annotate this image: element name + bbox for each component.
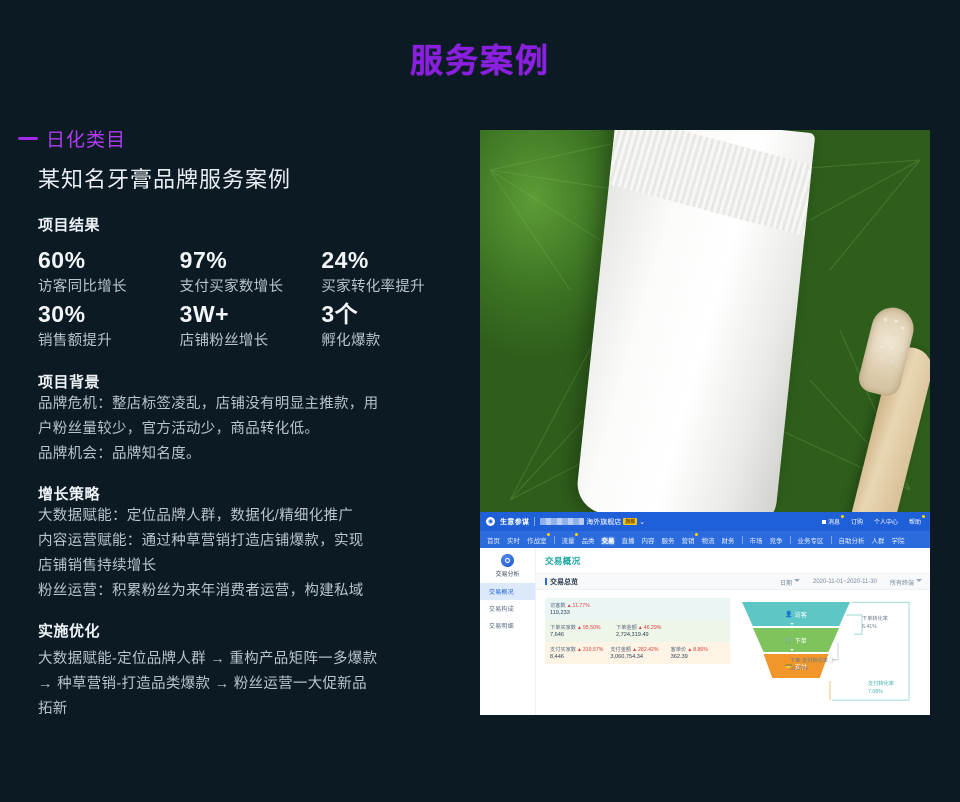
brand-logo-icon: ◉ xyxy=(486,517,495,526)
stat-delta: 11.77% xyxy=(573,603,590,609)
stat-delta: 319.57% xyxy=(583,647,603,653)
tube-crimp xyxy=(609,130,812,237)
nav-item-home[interactable]: 首页 xyxy=(487,535,500,545)
help-button[interactable]: 帮助 xyxy=(909,517,921,526)
shop-name-blurred xyxy=(540,518,584,525)
sidebar-item-detail[interactable]: 交易明细 xyxy=(480,617,535,634)
stat-cell[interactable]: 支付金额 ▲ 282.42% 3,060,754.34 xyxy=(610,646,664,660)
nav-item-marketing[interactable]: 营销 xyxy=(682,535,695,545)
date-range-value[interactable]: 2020-11-01~2020-11-30 xyxy=(813,579,877,585)
trend-up-icon: ▲ xyxy=(632,647,637,653)
nav-item-finance[interactable]: 财务 xyxy=(722,535,735,545)
metric-cell: 60% 访客同比增长 xyxy=(38,245,180,299)
background-line: 户粉丝量较少，官方活动少，商品转化低。 xyxy=(38,417,463,442)
conversion-order-to-pay-rate: 下单-支付转化率 ⓘ 61.07% xyxy=(790,658,835,673)
stat-name-row: 客单价 ▲ 8.86% xyxy=(671,646,725,653)
nav-item-realtime[interactable]: 实时 xyxy=(507,535,520,545)
stat-cell[interactable]: 客单价 ▲ 8.86% 362.39 xyxy=(671,646,725,660)
trend-up-icon: ▲ xyxy=(577,647,582,653)
section-toolbar: 交易总览 日期 2020-11-01~2020-11-30 所有终端 xyxy=(536,573,930,590)
nav-divider xyxy=(554,536,555,544)
metric-cell: 97% 支付买家数增长 xyxy=(180,245,322,299)
nav-item-category[interactable]: 品类 xyxy=(582,535,595,545)
metric-value: 30% xyxy=(38,299,180,329)
nav-divider xyxy=(790,536,791,544)
nav-divider xyxy=(742,536,743,544)
nav-item-business-zone[interactable]: 业务专区 xyxy=(798,535,824,545)
metric-label: 买家转化率提升 xyxy=(321,275,463,299)
metrics-row: 30% 销售额提升 3W+ 店铺粉丝增长 3个 孵化爆款 xyxy=(38,299,463,353)
stat-delta: 282.42% xyxy=(638,647,658,653)
case-detail-column: 日化类目 某知名牙膏品牌服务案例 项目结果 60% 访客同比增长 97% 支付买… xyxy=(18,125,463,722)
conversion-order-rate: 下单转化率 6.41% xyxy=(862,616,888,631)
nav-item-logistics[interactable]: 物流 xyxy=(702,535,715,545)
metric-cell: 3W+ 店铺粉丝增长 xyxy=(180,299,322,353)
stat-bands: 访客数 ▲ 11.77% 119,233 下单买家数 xyxy=(545,598,730,715)
category-row: 日化类目 xyxy=(18,125,463,152)
stat-label: 访客数 xyxy=(550,602,566,609)
nav-item-live[interactable]: 直播 xyxy=(622,535,635,545)
date-type-select[interactable]: 日期 xyxy=(780,577,800,587)
nav-item-content[interactable]: 内容 xyxy=(642,535,655,545)
metric-cell: 24% 买家转化率提升 xyxy=(321,245,463,299)
profile-button[interactable]: 个人中心 xyxy=(874,517,898,526)
funnel-stage-label: 下单 xyxy=(795,636,807,645)
stat-delta: 8.86% xyxy=(693,647,708,653)
nav-item-self-analysis[interactable]: 自助分析 xyxy=(839,535,865,545)
metric-cell: 3个 孵化爆款 xyxy=(321,299,463,353)
metric-value: 3个 xyxy=(321,299,463,329)
stat-label: 支付买家数 xyxy=(550,646,576,653)
stat-value: 8,446 xyxy=(550,654,604,660)
stat-value: 7,646 xyxy=(550,632,610,638)
stat-name-row: 下单金额 ▲ 46.29% xyxy=(616,624,676,631)
section-title: 交易总览 xyxy=(545,577,578,587)
stat-delta: 46.29% xyxy=(644,625,662,631)
metrics-row: 60% 访客同比增长 97% 支付买家数增长 24% 买家转化率提升 xyxy=(38,245,463,299)
stat-value: 362.39 xyxy=(671,654,725,660)
strategy-section: 增长策略 大数据赋能：定位品牌人群，数据化/精细化推广 内容运营赋能：通过种草营… xyxy=(38,483,463,604)
conversion-value: 61.07% xyxy=(790,666,835,674)
stat-delta: 95.50% xyxy=(583,625,601,631)
service-case-page: 服务案例 日化类目 某知名牙膏品牌服务案例 项目结果 60% 访客同比增长 97… xyxy=(0,0,960,802)
metric-cell: 30% 销售额提升 xyxy=(38,299,180,353)
sidebar-title: 交易分析 xyxy=(480,569,535,578)
dashboard-sidebar: 交易分析 交易概况 交易构成 交易明细 xyxy=(480,548,536,715)
stat-label: 客单价 xyxy=(671,646,687,653)
dashboard-main: 交易概况 交易总览 日期 2020-11-01~2020-11-30 所有终端 xyxy=(536,548,930,715)
stat-label: 下单金额 xyxy=(616,624,637,631)
funnel-stage-label: 访客 xyxy=(795,610,807,619)
implementation-line: 大数据赋能-定位品牌人群 → 重构产品矩阵一多爆款 xyxy=(38,647,463,672)
implementation-line: → 种草营销-打造品类爆款 → 粉丝运营一大促新品 xyxy=(38,672,463,697)
dashboard-screenshot: ◉ 生意参谋 海外旗舰店 旗舰 ⌄ 消息 订购 个人中心 xyxy=(480,512,930,715)
stat-value: 3,060,754.34 xyxy=(610,654,664,660)
funnel-caret-icon xyxy=(790,623,794,627)
implementation-section: 实施优化 大数据赋能-定位品牌人群 → 重构产品矩阵一多爆款 → 种草营销-打造… xyxy=(38,620,463,722)
conversion-funnel-chart: 👤 访客 🛒 下单 💳 支付 xyxy=(734,598,924,715)
stat-cell[interactable]: 下单买家数 ▲ 95.50% 7,646 xyxy=(550,624,610,638)
metric-value: 3W+ xyxy=(180,299,322,329)
nav-item-market[interactable]: 市场 xyxy=(750,535,763,545)
case-title: 某知名牙膏品牌服务案例 xyxy=(38,162,463,194)
overview-panel: 访客数 ▲ 11.77% 119,233 下单买家数 xyxy=(536,590,930,715)
metric-value: 24% xyxy=(321,245,463,275)
trend-up-icon: ▲ xyxy=(638,625,643,631)
conversion-label: 下单转化率 xyxy=(862,616,888,622)
main-page-title: 交易概况 xyxy=(536,548,930,573)
nav-item-crowd[interactable]: 人群 xyxy=(872,535,885,545)
background-line: 品牌危机：整店标签凌乱，店铺没有明显主推款，用 xyxy=(38,392,463,417)
stat-value: 119,233 xyxy=(550,610,610,616)
stat-label: 下单买家数 xyxy=(550,624,576,631)
page-title: 服务案例 xyxy=(0,34,960,82)
strategy-line: 粉丝运营：积累粉丝为来年消费者运营，构建私域 xyxy=(38,579,463,604)
sidebar-header: 交易分析 xyxy=(480,554,535,578)
funnel-caret-icon xyxy=(790,649,794,653)
dashboard-body: 交易分析 交易概况 交易构成 交易明细 交易概况 交易总览 日期 2020-11… xyxy=(480,548,930,715)
category-dash-icon xyxy=(18,137,38,140)
stat-band-payments: 支付买家数 ▲ 319.57% 8,446 支付金额 ▲ 2 xyxy=(545,642,730,664)
filter-group: 日期 2020-11-01~2020-11-30 所有终端 xyxy=(780,577,922,587)
conversion-value: 7.08% xyxy=(868,689,894,697)
shop-name: 海外旗舰店 xyxy=(586,517,621,527)
implementation-line: 拓新 xyxy=(38,697,463,722)
shop-selector[interactable]: 海外旗舰店 旗舰 ⌄ xyxy=(540,517,645,527)
transaction-analysis-icon xyxy=(501,554,514,567)
strategy-line: 店铺销售持续增长 xyxy=(38,554,463,579)
orders-label: 订购 xyxy=(851,517,863,526)
chevron-down-icon[interactable]: ⌄ xyxy=(639,518,645,526)
orders-button[interactable]: 订购 xyxy=(851,517,863,526)
chevron-down-icon xyxy=(916,579,922,585)
stat-cell[interactable]: 支付买家数 ▲ 319.57% 8,446 xyxy=(550,646,604,660)
nav-dot-icon xyxy=(575,533,578,536)
metric-label: 支付买家数增长 xyxy=(180,275,322,299)
metric-label: 店铺粉丝增长 xyxy=(180,329,322,353)
header-divider xyxy=(534,517,535,526)
stat-name-row: 支付金额 ▲ 282.42% xyxy=(610,646,664,653)
dashboard-header: ◉ 生意参谋 海外旗舰店 旗舰 ⌄ 消息 订购 个人中心 xyxy=(480,512,930,531)
conversion-value: 6.41% xyxy=(862,624,888,632)
notification-dot-icon xyxy=(922,515,925,518)
dashboard-nav: 首页 实时 作战室 流量 品类 交易 直播 内容 服务 营销 物流 财务 市场 … xyxy=(480,531,930,548)
stat-value: 2,724,319.49 xyxy=(616,632,676,638)
terminal-select[interactable]: 所有终端 xyxy=(890,577,922,587)
stat-name-row: 下单买家数 ▲ 95.50% xyxy=(550,624,610,631)
stat-band-orders: 下单买家数 ▲ 95.50% 7,646 下单金额 ▲ 46 xyxy=(545,620,730,642)
background-section: 项目背景 品牌危机：整店标签凌乱，店铺没有明显主推款，用 户粉丝量较少，官方活动… xyxy=(38,371,463,467)
metric-label: 销售额提升 xyxy=(38,329,180,353)
stat-name-row: 支付买家数 ▲ 319.57% xyxy=(550,646,604,653)
metric-value: 60% xyxy=(38,245,180,275)
header-actions: 消息 订购 个人中心 帮助 xyxy=(822,517,924,526)
funnel-stage-visitors: 👤 访客 xyxy=(742,602,850,626)
nav-item-traffic[interactable]: 流量 xyxy=(562,535,575,545)
implementation-heading: 实施优化 xyxy=(38,620,463,641)
sidebar-item-overview[interactable]: 交易概况 xyxy=(480,583,535,600)
stat-band-visitors: 访客数 ▲ 11.77% 119,233 xyxy=(545,598,730,620)
strategy-line: 内容运营赋能：通过种草营销打造店铺爆款，实现 xyxy=(38,529,463,554)
stat-cell[interactable]: 访客数 ▲ 11.77% 119,233 xyxy=(550,602,610,616)
profile-label: 个人中心 xyxy=(874,517,898,526)
nav-item-service[interactable]: 服务 xyxy=(662,535,675,545)
notification-dot-icon xyxy=(841,515,844,518)
conversion-pay-rate: 支付转化率 7.08% xyxy=(868,681,894,696)
metric-label: 访客同比增长 xyxy=(38,275,180,299)
strategy-line: 大数据赋能：定位品牌人群，数据化/精细化推广 xyxy=(38,504,463,529)
sidebar-item-composition[interactable]: 交易构成 xyxy=(480,600,535,617)
nav-dot-icon xyxy=(695,533,698,536)
nav-dot-icon xyxy=(547,533,550,536)
toothpaste-tube xyxy=(575,130,816,515)
background-heading: 项目背景 xyxy=(38,371,463,392)
messages-label: 消息 xyxy=(828,517,840,526)
strategy-heading: 增长策略 xyxy=(38,483,463,504)
help-label: 帮助 xyxy=(909,517,921,526)
stat-cell[interactable]: 下单金额 ▲ 46.29% 2,724,319.49 xyxy=(616,624,676,638)
metrics-grid: 60% 访客同比增长 97% 支付买家数增长 24% 买家转化率提升 30% 销… xyxy=(38,245,463,353)
chevron-down-icon xyxy=(794,579,800,585)
stat-name-row: 访客数 ▲ 11.77% xyxy=(550,602,610,609)
results-heading: 项目结果 xyxy=(38,214,463,235)
cart-icon: 🛒 xyxy=(785,637,792,644)
conversion-label: 下单-支付转化率 ⓘ xyxy=(790,658,835,664)
nav-item-transaction[interactable]: 交易 xyxy=(602,535,615,545)
trend-up-icon: ▲ xyxy=(577,625,582,631)
nav-divider xyxy=(831,536,832,544)
message-icon xyxy=(822,520,826,524)
trend-up-icon: ▲ xyxy=(567,603,572,609)
nav-item-warroom[interactable]: 作战室 xyxy=(527,535,547,545)
results-section: 项目结果 xyxy=(38,214,463,235)
visitor-icon: 👤 xyxy=(785,611,792,618)
nav-item-academy[interactable]: 学院 xyxy=(892,535,905,545)
brand-name: 生意参谋 xyxy=(500,517,529,527)
nav-item-competition[interactable]: 竞争 xyxy=(770,535,783,545)
stat-label: 支付金额 xyxy=(610,646,631,653)
messages-button[interactable]: 消息 xyxy=(822,517,840,526)
metric-value: 97% xyxy=(180,245,322,275)
metric-label: 孵化爆款 xyxy=(321,329,463,353)
background-line: 品牌机会：品牌知名度。 xyxy=(38,442,463,467)
shop-tag-badge: 旗舰 xyxy=(623,518,637,525)
conversion-label: 支付转化率 xyxy=(868,681,894,687)
category-label: 日化类目 xyxy=(46,125,126,152)
trend-up-icon: ▲ xyxy=(687,647,692,653)
product-photo xyxy=(480,130,930,515)
